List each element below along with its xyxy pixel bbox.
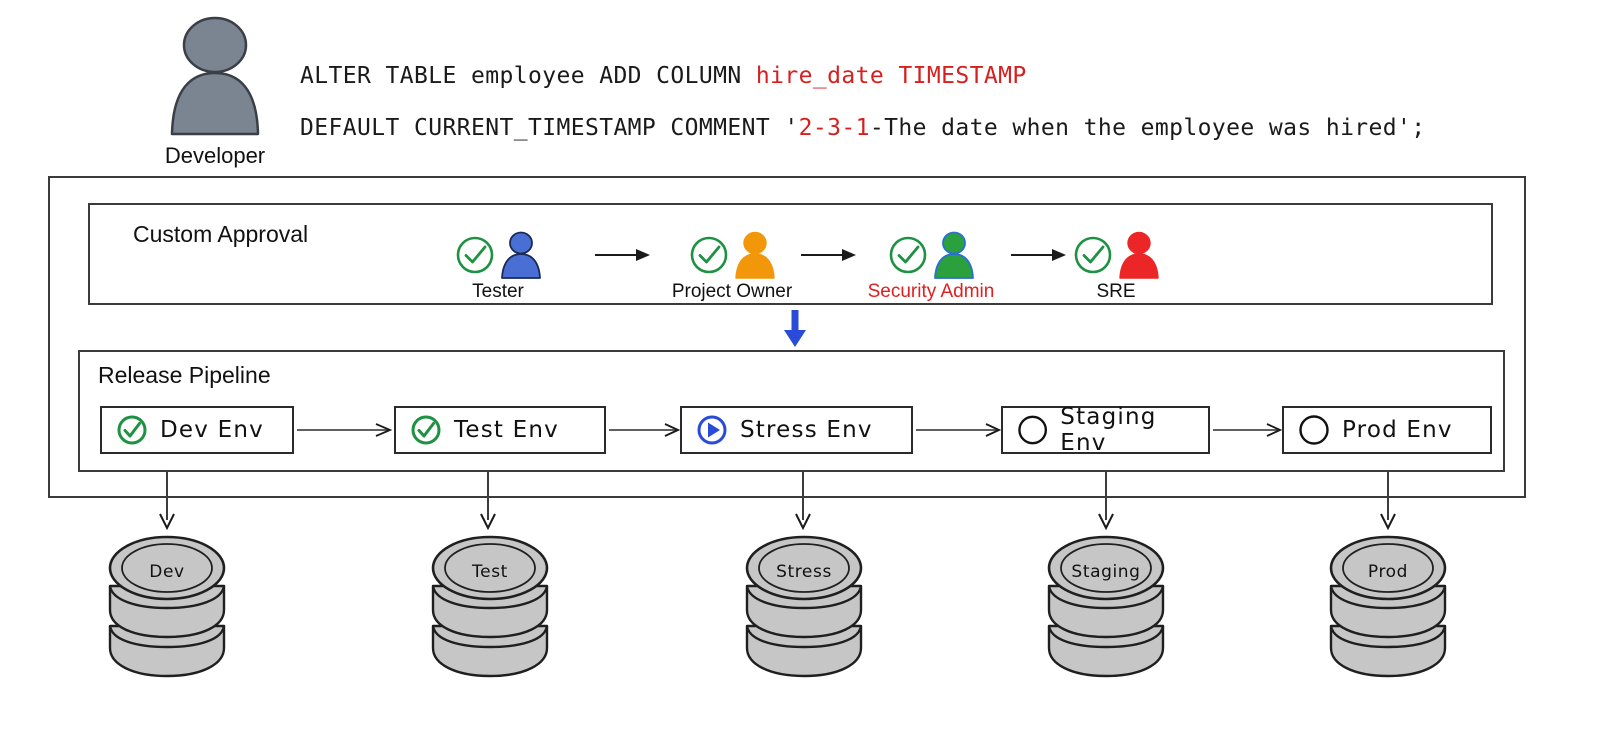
database-prod[interactable]: Prod [1313, 528, 1463, 689]
arrow-right-icon [915, 423, 1001, 437]
release-pipeline-title: Release Pipeline [98, 362, 271, 389]
check-circle-icon [886, 233, 930, 277]
empty-circle-icon [1298, 414, 1330, 446]
pipeline-stage-dev-env[interactable]: Dev Env [100, 406, 294, 454]
arrow-down-icon [1096, 470, 1116, 530]
sql-line-2-text: DEFAULT CURRENT_TIMESTAMP COMMENT ' [300, 115, 799, 141]
sql-line-2-tail: -The date when the employee was hired'; [870, 115, 1426, 141]
database-test[interactable]: Test [415, 528, 565, 689]
pipeline-stage-label: Test Env [454, 417, 559, 443]
arrow-down-icon [780, 308, 810, 348]
sql-line-1-highlight: hire_date TIMESTAMP [756, 63, 1027, 89]
play-circle-icon [696, 414, 728, 446]
check-circle-icon [453, 233, 497, 277]
pipeline-stage-prod-env[interactable]: Prod Env [1282, 406, 1492, 454]
arrow-down-icon [793, 470, 813, 530]
approver-sre[interactable]: SRE [1036, 230, 1196, 302]
sql-line-1-text: ALTER TABLE employee ADD COLUMN [300, 63, 756, 89]
approver-project-owner[interactable]: Project Owner [652, 230, 812, 302]
user-icon [162, 14, 268, 136]
approver-security-admin[interactable]: Security Admin [851, 230, 1011, 302]
database-icon [1031, 528, 1181, 684]
approver-tester[interactable]: Tester [418, 230, 578, 302]
check-circle-icon [687, 233, 731, 277]
arrow-right-icon [296, 423, 392, 437]
custom-approval-title: Custom Approval [133, 221, 308, 248]
user-icon [932, 231, 976, 279]
pipeline-stage-label: Stress Env [740, 417, 873, 443]
user-icon [1117, 231, 1161, 279]
developer-actor: Developer [150, 14, 280, 169]
arrow-right-icon [1212, 423, 1282, 437]
database-icon [729, 528, 879, 684]
pipeline-stage-label: Dev Env [160, 417, 264, 443]
check-circle-icon [410, 414, 442, 446]
database-icon [415, 528, 565, 684]
developer-label: Developer [150, 143, 280, 169]
sql-line-2: DEFAULT CURRENT_TIMESTAMP COMMENT '2-3-1… [300, 102, 1500, 154]
pipeline-stage-label: Prod Env [1342, 417, 1453, 443]
check-circle-icon [1071, 233, 1115, 277]
pipeline-stage-staging-env[interactable]: Staging Env [1001, 406, 1210, 454]
empty-circle-icon [1017, 414, 1048, 446]
database-dev[interactable]: Dev [92, 528, 242, 689]
database-icon [1313, 528, 1463, 684]
approver-label: Tester [418, 282, 578, 302]
approver-label: SRE [1036, 282, 1196, 302]
user-icon [733, 231, 777, 279]
sql-statement: ALTER TABLE employee ADD COLUMN hire_dat… [300, 50, 1500, 154]
pipeline-stage-label: Staging Env [1060, 404, 1208, 456]
arrow-down-icon [157, 470, 177, 530]
approver-label: Security Admin [851, 282, 1011, 302]
pipeline-stage-stress-env[interactable]: Stress Env [680, 406, 913, 454]
database-stress[interactable]: Stress [729, 528, 879, 689]
approver-label: Project Owner [652, 282, 812, 302]
arrow-down-icon [478, 470, 498, 530]
check-circle-icon [116, 414, 148, 446]
arrow-right-icon [800, 248, 856, 262]
pipeline-stage-test-env[interactable]: Test Env [394, 406, 606, 454]
arrow-right-icon [608, 423, 680, 437]
sql-line-1: ALTER TABLE employee ADD COLUMN hire_dat… [300, 50, 1500, 102]
database-icon [92, 528, 242, 684]
arrow-right-icon [594, 248, 650, 262]
arrow-down-icon [1378, 470, 1398, 530]
user-icon [499, 231, 543, 279]
database-staging[interactable]: Staging [1031, 528, 1181, 689]
sql-line-2-highlight: 2-3-1 [799, 115, 870, 141]
